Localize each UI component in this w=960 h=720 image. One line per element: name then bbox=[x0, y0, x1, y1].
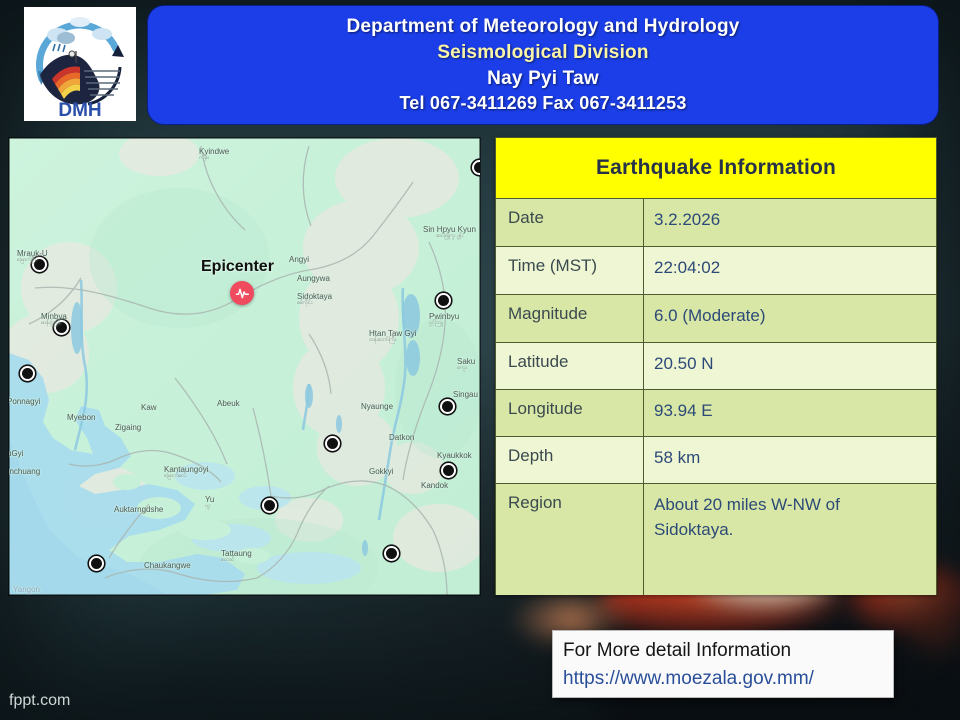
seismograph-wave-icon bbox=[235, 286, 250, 301]
map-label-burmese: စကူး bbox=[457, 366, 475, 372]
row-value-magnitude: 6.0 (Moderate) bbox=[644, 295, 936, 342]
map-city-marker[interactable] bbox=[384, 546, 399, 561]
table-row: Depth 58 km bbox=[496, 437, 936, 484]
map-label: unchuang bbox=[9, 468, 40, 476]
map-label-text: Datkon bbox=[389, 433, 414, 442]
map-label: Sin Hpyu Kyun ဆင်ဖြူကွျန်း bbox=[423, 226, 476, 240]
water-cycle-icon: DMH bbox=[28, 9, 132, 119]
row-label-magnitude: Magnitude bbox=[496, 295, 644, 342]
dmh-logo: DMH bbox=[24, 7, 136, 121]
map-label: Zigaing bbox=[115, 424, 141, 432]
map-label-text: Abeuk bbox=[217, 399, 240, 408]
map-label: Sidoktaya စစ်ကိုင်း bbox=[297, 293, 332, 307]
table-row: Latitude 20.50 N bbox=[496, 343, 936, 390]
map-label-burmese: မြောက်ဦး bbox=[17, 258, 48, 264]
info-table-header: Earthquake Information bbox=[496, 138, 936, 199]
banner-line-division: Seismological Division bbox=[437, 40, 648, 65]
more-info-link[interactable]: https://www.moezala.gov.mm/ bbox=[563, 665, 893, 693]
map-label: Kantaungoyi မြောက်မလ် bbox=[164, 466, 208, 480]
map-label: Gokkyi bbox=[369, 468, 393, 476]
banner-line-city: Nay Pyi Taw bbox=[487, 66, 599, 91]
map-label-burmese: မြောက်မလ် bbox=[164, 474, 208, 480]
more-info-box[interactable]: For More detail Information https://www.… bbox=[552, 630, 894, 698]
row-value-latitude: 20.50 N bbox=[644, 343, 936, 389]
map-label: Angyi bbox=[289, 256, 309, 264]
row-value-depth: 58 km bbox=[644, 437, 936, 483]
map-label-text: Kyaukkok bbox=[437, 451, 472, 460]
row-label-depth: Depth bbox=[496, 437, 644, 483]
banner-line-contact: Tel 067-3411269 Fax 067-3411253 bbox=[399, 92, 686, 116]
map-label-burmese: ယွ bbox=[205, 504, 214, 510]
map-label-text: Angyi bbox=[289, 255, 309, 264]
map-label-text: Zigaing bbox=[115, 423, 141, 432]
row-label-region: Region bbox=[496, 484, 644, 595]
map-label-text: Singau bbox=[453, 390, 478, 399]
map-city-marker[interactable] bbox=[436, 293, 451, 308]
map-label: Kandok bbox=[421, 482, 448, 490]
map-label-text: Myebon bbox=[67, 413, 95, 422]
map-label-burmese: တောင် bbox=[221, 558, 252, 564]
map-label-burmese: ဆင်ဖြူကွျန်း bbox=[423, 234, 476, 240]
map-label-text: Kandok bbox=[421, 481, 448, 490]
map-label-text: Nyaunge bbox=[361, 402, 393, 411]
map-label: Saku စကူး bbox=[457, 358, 475, 372]
map-label-burmese: မာန်းဘြား bbox=[41, 321, 67, 327]
dmh-logo-text: DMH bbox=[58, 100, 101, 119]
more-info-heading: For More detail Information bbox=[563, 637, 893, 665]
row-label-time: Time (MST) bbox=[496, 247, 644, 294]
map-label-text: uGyi bbox=[9, 449, 23, 458]
map-label: Datkon bbox=[389, 434, 414, 442]
map-label: Abeuk bbox=[217, 400, 240, 408]
table-row: Longitude 93.94 E bbox=[496, 390, 936, 437]
epicenter-label: Epicenter bbox=[201, 258, 274, 276]
map-city-marker[interactable] bbox=[472, 160, 480, 175]
map-label: Minbya မာန်းဘြား bbox=[41, 313, 67, 327]
map-label-text: unchuang bbox=[9, 467, 40, 476]
map-label: Chaukangwe bbox=[144, 562, 191, 570]
map-city-marker[interactable] bbox=[325, 436, 340, 451]
watermark: fppt.com bbox=[9, 692, 70, 710]
map-label: Auktarngdshe bbox=[114, 506, 163, 514]
row-value-time: 22:04:02 bbox=[644, 247, 936, 294]
table-row: Time (MST) 22:04:02 bbox=[496, 247, 936, 295]
info-table-title: Earthquake Information bbox=[596, 156, 836, 180]
row-value-date: 3.2.2026 bbox=[644, 199, 936, 246]
map-label: Nyaunge bbox=[361, 403, 393, 411]
map-label: Tattaung တောင် bbox=[221, 550, 252, 564]
map-label: Mrauk-U မြောက်ဦး bbox=[17, 250, 48, 264]
map-label: Singau bbox=[453, 391, 478, 399]
info-table-body: Date 3.2.2026 Time (MST) 22:04:02 Magnit… bbox=[496, 199, 936, 595]
map-label: Ponnagyi bbox=[9, 398, 40, 406]
agency-banner: Department of Meteorology and Hydrology … bbox=[148, 6, 938, 124]
map-label-text: Ponnagyi bbox=[9, 397, 40, 406]
row-value-region: About 20 miles W-NW of Sidoktaya. bbox=[644, 484, 936, 595]
table-row: Region About 20 miles W-NW of Sidoktaya. bbox=[496, 484, 936, 595]
map-label: uGyi bbox=[9, 450, 23, 458]
map-label-burmese: စစ်ကိုင်း bbox=[297, 301, 332, 307]
row-label-latitude: Latitude bbox=[496, 343, 644, 389]
map-label-text: Auktarngdshe bbox=[114, 505, 163, 514]
map-label: Kaw bbox=[141, 404, 157, 412]
map-label-burmese: ထန်းတော်ကြီး bbox=[369, 338, 416, 344]
map-label-text: Kaw bbox=[141, 403, 157, 412]
earthquake-info-table: Earthquake Information Date 3.2.2026 Tim… bbox=[495, 137, 937, 595]
map-graphic bbox=[9, 138, 480, 595]
map-label-text: Yangon bbox=[13, 585, 40, 594]
map-label-text: Chaukangwe bbox=[144, 561, 191, 570]
row-label-longitude: Longitude bbox=[496, 390, 644, 436]
map-label-text: Aungywa bbox=[297, 274, 330, 283]
epicenter-marker[interactable] bbox=[230, 281, 254, 305]
map-city-marker[interactable] bbox=[440, 399, 455, 414]
map-label: Pwinbyu ပွင့်ဘြူ bbox=[429, 313, 459, 327]
map-city-marker[interactable] bbox=[441, 463, 456, 478]
map-label: Myebon bbox=[67, 414, 95, 422]
map-label: Kyaukkok bbox=[437, 452, 472, 460]
map-city-marker[interactable] bbox=[262, 498, 277, 513]
table-row: Magnitude 6.0 (Moderate) bbox=[496, 295, 936, 343]
epicenter-map[interactable]: Kyindwe ကျီးဝ Mrauk-U မြောက်ဦး Minbya မ… bbox=[9, 138, 480, 595]
row-label-date: Date bbox=[496, 199, 644, 246]
map-label-burmese: ကျီးဝ bbox=[199, 156, 229, 162]
row-value-longitude: 93.94 E bbox=[644, 390, 936, 436]
map-label: Yangon bbox=[13, 586, 40, 594]
banner-line-department: Department of Meteorology and Hydrology bbox=[346, 14, 739, 39]
map-city-marker[interactable] bbox=[89, 556, 104, 571]
page-header: DMH Department of Meteorology and Hydrol… bbox=[0, 0, 960, 130]
map-label: Htan Taw Gyi ထန်းတော်ကြီး bbox=[369, 330, 416, 344]
map-city-marker[interactable] bbox=[20, 366, 35, 381]
map-label: Yu ယွ bbox=[205, 496, 214, 510]
map-label: Aungywa bbox=[297, 275, 330, 283]
map-label-text: Gokkyi bbox=[369, 467, 393, 476]
map-label-burmese: ပွင့်ဘြူ bbox=[429, 321, 459, 327]
table-row: Date 3.2.2026 bbox=[496, 199, 936, 247]
map-label: Kyindwe ကျီးဝ bbox=[199, 148, 229, 162]
